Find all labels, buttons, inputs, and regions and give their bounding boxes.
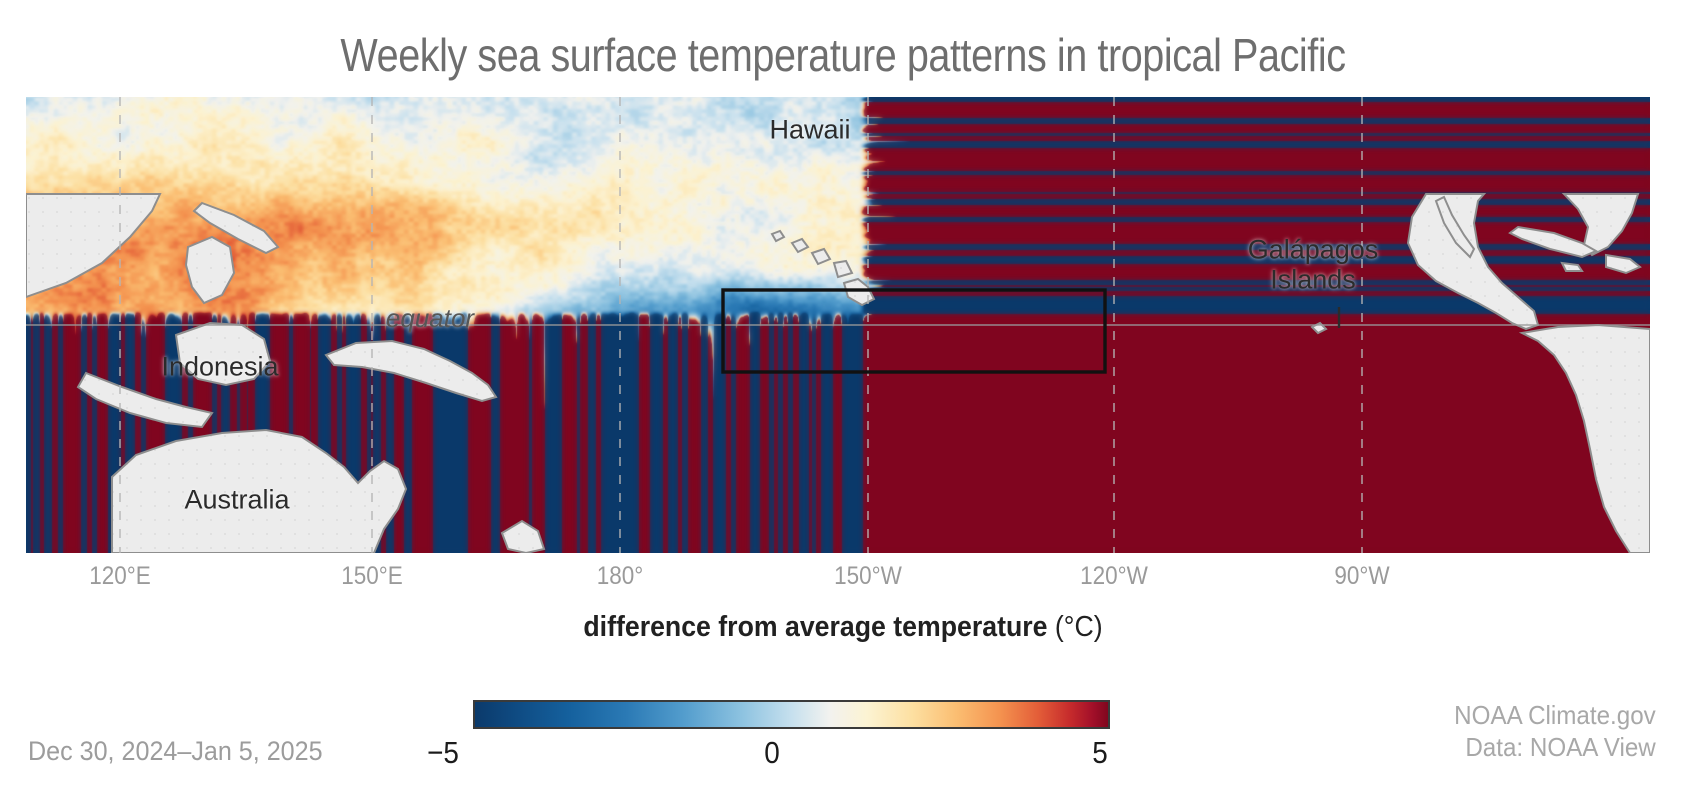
landmass-18: [1606, 255, 1640, 273]
colorbar-gradient: [473, 700, 1110, 729]
nino34-region-box: [723, 290, 1105, 372]
map-label-australia: Australia: [184, 485, 289, 514]
landmass-10: [812, 249, 830, 264]
landmass-15: [1522, 325, 1650, 553]
date-range-label: Dec 30, 2024–Jan 5, 2025: [28, 736, 323, 767]
map-label-equator: equator: [386, 304, 474, 332]
colorbar-title-unit: (°C): [1055, 611, 1103, 643]
landmass-9: [792, 239, 808, 252]
attribution-data-source: Data: NOAA View: [1454, 732, 1656, 764]
colorbar-tick-max: 5: [1092, 735, 1108, 771]
attribution: NOAA Climate.gov Data: NOAA View: [1439, 700, 1656, 763]
colorbar-title-main: difference from average temperature: [583, 611, 1055, 643]
landmass-4: [186, 237, 234, 303]
landmass-19: [1562, 263, 1582, 271]
sst-map-figure: Weekly sea surface temperature patterns …: [0, 0, 1686, 797]
landmass-1: [326, 341, 496, 401]
map-label-hawaii: Hawaii: [769, 115, 850, 144]
lon-tick-120W: 120°W: [1080, 562, 1148, 591]
map-label-galapagos_line1: Galápagos: [1248, 235, 1379, 264]
page-title: Weekly sea surface temperature patterns …: [118, 28, 1568, 82]
colorbar-tick-mid: 0: [764, 735, 780, 771]
lon-tick-90W: 90°W: [1334, 562, 1389, 591]
colorbar-tick-min: −5: [427, 735, 459, 771]
landmass-7: [502, 521, 544, 553]
lon-tick-150W: 150°W: [834, 562, 902, 591]
map-panel: HawaiiGalápagosIslandsIndonesiaAustralia…: [26, 97, 1650, 553]
attribution-organization: NOAA Climate.gov: [1454, 700, 1656, 732]
lon-tick-150E: 150°E: [341, 562, 403, 591]
map-label-indonesia: Indonesia: [161, 352, 278, 381]
landmass-8: [772, 231, 784, 241]
colorbar-title: difference from average temperature (°C): [67, 611, 1618, 644]
landmass-17: [1510, 227, 1596, 257]
landmass-14: [1408, 194, 1538, 329]
landmass-11: [834, 261, 852, 277]
lon-tick-180: 180°: [597, 562, 644, 591]
lon-tick-120E: 120°E: [89, 562, 151, 591]
landmass-5: [26, 194, 160, 297]
landmass-12: [844, 279, 874, 305]
map-label-galapagos_line2: Islands: [1270, 265, 1356, 294]
